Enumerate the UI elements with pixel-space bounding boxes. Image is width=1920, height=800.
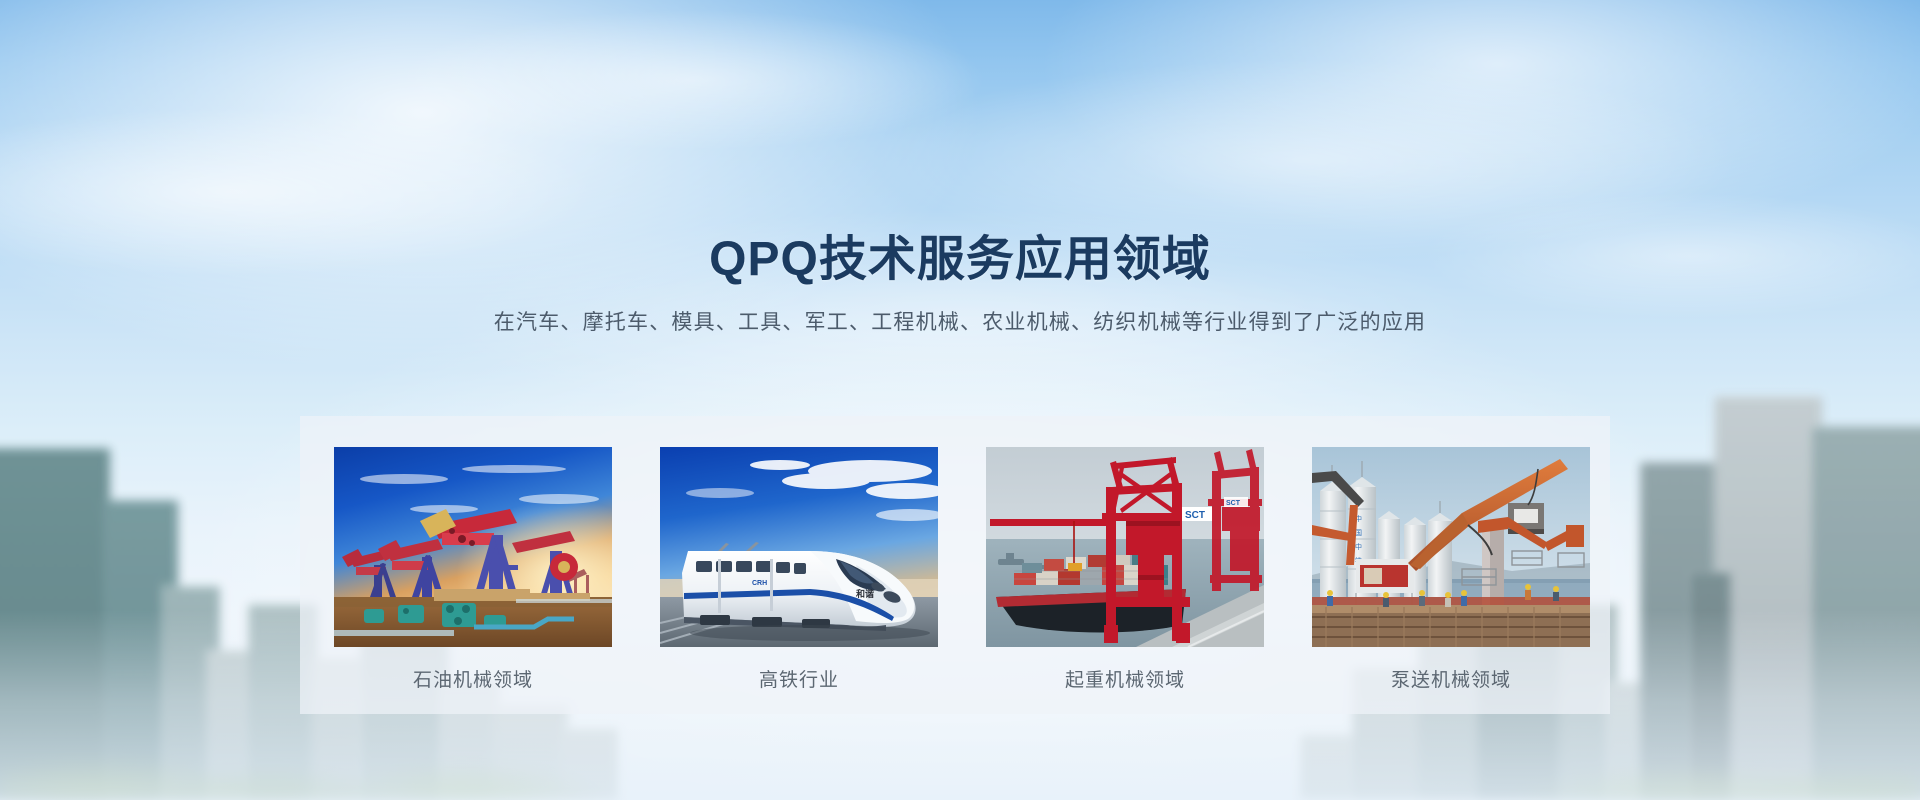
svg-text:中: 中 [1355, 542, 1362, 551]
application-cards-list: 石油机械领域 [334, 447, 1584, 697]
card-caption: 起重机械领域 [1065, 671, 1185, 690]
card-caption: 泵送机械领域 [1391, 671, 1511, 690]
high-speed-train-photo[interactable]: CRH 和谐 [660, 447, 938, 647]
svg-text:CRH: CRH [752, 580, 767, 587]
page-title: QPQ技术服务应用领域 [0, 236, 1920, 284]
foreground-foliage [0, 728, 1920, 800]
card-oil-machinery[interactable]: 石油机械领域 [334, 447, 612, 697]
concrete-pump-site-photo[interactable]: 中国 中铁 [1312, 447, 1590, 647]
card-pumping-machinery[interactable]: 中国 中铁 [1312, 447, 1590, 697]
hero-banner: QPQ技术服务应用领域 在汽车、摩托车、模具、工具、军工、工程机械、农业机械、纺… [0, 0, 1920, 800]
svg-text:SCT: SCT [1185, 510, 1205, 521]
oil-pumpjacks-sunset-photo[interactable] [334, 447, 612, 647]
svg-text:和谐: 和谐 [855, 588, 874, 599]
hero-heading-group: QPQ技术服务应用领域 在汽车、摩托车、模具、工具、军工、工程机械、农业机械、纺… [0, 236, 1920, 333]
card-high-speed-rail[interactable]: CRH 和谐 高铁行业 [660, 447, 938, 697]
card-caption: 高铁行业 [759, 671, 839, 690]
card-lifting-machinery[interactable]: SCT SCT 起重机械领域 [986, 447, 1264, 697]
port-gantry-cranes-photo[interactable]: SCT SCT [986, 447, 1264, 647]
svg-text:SCT: SCT [1226, 500, 1241, 507]
page-subtitle: 在汽车、摩托车、模具、工具、军工、工程机械、农业机械、纺织机械等行业得到了广泛的… [0, 312, 1920, 333]
card-caption: 石油机械领域 [413, 671, 533, 690]
